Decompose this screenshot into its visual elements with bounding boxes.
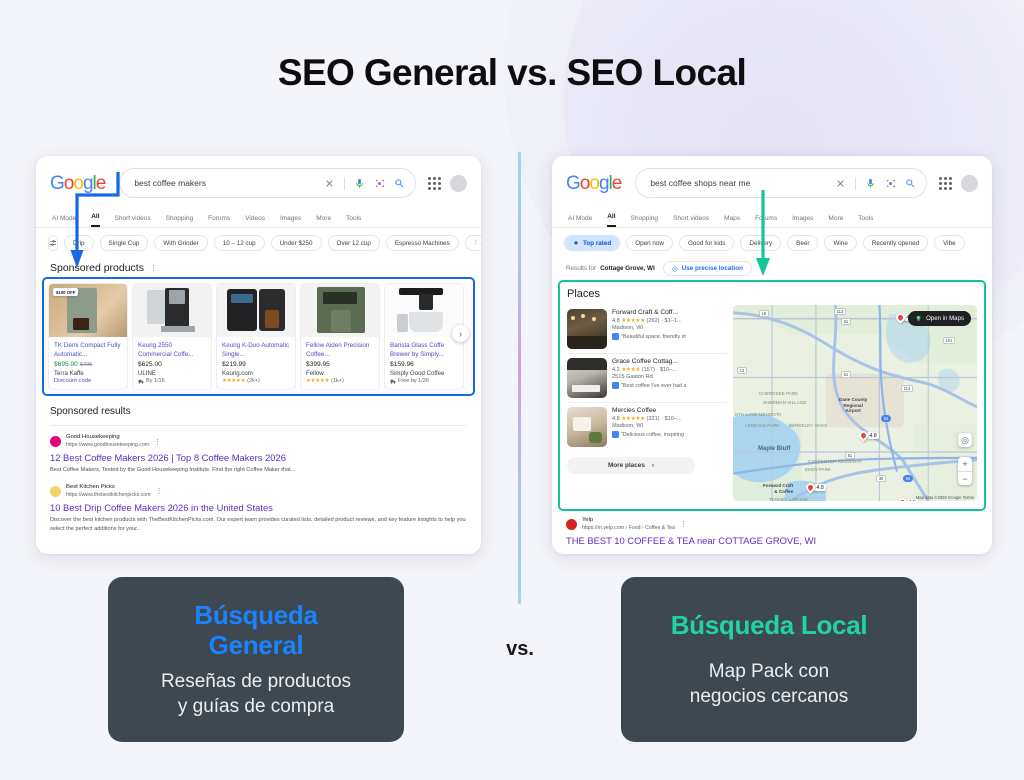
search-result-item: Good Housekeeping https://www.goodhousek… [36, 426, 481, 475]
favicon-icon [566, 519, 577, 530]
divider [855, 177, 856, 190]
location-prefix: Results for [566, 265, 596, 272]
map-pin-rating: 4.8 [867, 432, 879, 439]
star-rating-icon: ★★★★★ [621, 318, 645, 324]
map-recenter-button[interactable]: ◎ [958, 433, 972, 447]
tab-ai-mode[interactable]: AI Mode [568, 215, 592, 227]
result-url: https://www.goodhousekeeping.com [66, 442, 149, 449]
map-pin-rating: 4.8 [814, 484, 826, 491]
place-info: Mercies Coffee 4.8 ★★★★★ (321) · $10–...… [612, 407, 727, 447]
product-shipping: By 1/15 [138, 378, 206, 384]
product-card[interactable]: $100 OFF TK Demi Compact Fully Automatic… [48, 283, 128, 390]
map-pin[interactable]: 4.8 [859, 431, 879, 440]
result-url: https://m.yelp.com › Food › Coffee & Tea [582, 525, 675, 532]
divider [344, 177, 345, 190]
kebab-menu-icon[interactable]: ⋮ [760, 265, 767, 273]
tab-all[interactable]: All [91, 213, 99, 227]
tab-images[interactable]: Images [792, 215, 813, 227]
serp-nav-tabs-right: AI Mode All Shopping Short videos Maps F… [552, 206, 992, 228]
result-title[interactable]: THE BEST 10 COFFEE & TEA near COTTAGE GR… [566, 535, 978, 546]
product-merchant: Terra Kaffe [54, 370, 122, 377]
result-source: Best Kitchen Picks https://www.thebestki… [50, 484, 467, 499]
caption-title: Búsqueda Local [671, 610, 868, 640]
google-logo[interactable]: Google [566, 174, 621, 193]
open-in-maps-button[interactable]: Open in Maps [908, 311, 971, 326]
route-shield: 51 [841, 371, 851, 378]
product-card[interactable]: Fellow Aiden Precision Coffee... $399.95… [300, 283, 380, 390]
award-icon [573, 240, 579, 246]
microphone-icon[interactable] [865, 178, 876, 189]
result-source: Good Housekeeping https://www.goodhousek… [50, 434, 467, 449]
result-description: Best Coffee Makers, Tested by the Good H… [50, 466, 467, 476]
avatar[interactable] [961, 175, 978, 192]
route-shield: 51 [845, 452, 855, 459]
star-rating-icon: ★★★★★ [621, 416, 645, 422]
search-icon[interactable] [905, 178, 916, 189]
microphone-icon[interactable] [354, 178, 365, 189]
tab-images[interactable]: Images [280, 215, 301, 227]
chip-open-now[interactable]: Open now [626, 235, 673, 251]
product-price: $399.95 [306, 361, 374, 368]
caption-title: Búsqueda General [194, 600, 317, 660]
result-site-name: Yelp [582, 517, 675, 525]
map-label: CARPENTER RIDGEWAY [808, 459, 862, 464]
use-precise-location-button[interactable]: Use precise location [663, 261, 752, 276]
map-label-business: Forward Craft& Coffee [763, 483, 793, 494]
chip-recently-opened[interactable]: Recently opened [863, 235, 928, 251]
product-image [217, 284, 295, 337]
product-shipping: Free by 1/26 [390, 378, 458, 384]
product-image [133, 284, 211, 337]
caption-title-line1: Búsqueda Local [671, 610, 868, 640]
google-header-right: Google best coffee shops near me [552, 156, 992, 206]
review-badge-icon [612, 431, 619, 438]
google-lens-icon[interactable] [885, 178, 896, 189]
caption-card-general: Búsqueda General Reseñas de productos y … [108, 577, 404, 742]
filter-settings-icon[interactable] [48, 235, 58, 251]
place-name[interactable]: Mercies Coffee [612, 407, 727, 414]
serp-general-panel: Google best coffee makers AI Mode All Sh… [36, 156, 481, 554]
product-merchant: Fellow [306, 370, 374, 377]
caption-sub-line1: Map Pack con [690, 659, 848, 684]
place-address: Madison, WI [612, 325, 727, 331]
sponsored-products-label: Sponsored products [50, 262, 144, 274]
place-name[interactable]: Forward Craft & Coff... [612, 309, 727, 316]
product-rating: ★★★★★(2k+) [222, 378, 290, 384]
caption-sub-line1: Reseñas de productos [161, 669, 351, 694]
tab-short-videos[interactable]: Short videos [115, 215, 151, 227]
google-apps-icon[interactable] [428, 177, 441, 190]
product-price: $219.99 [222, 361, 290, 368]
product-body: Keurig K-Duo Automatic Single... $219.99… [217, 337, 295, 389]
product-body: Barista Glass Coffe Brewer by Simply... … [385, 337, 463, 389]
map-label: TENNEY LAPHAM [769, 497, 808, 501]
route-shield: 51 [841, 318, 851, 325]
chip-vibe[interactable]: Vibe [934, 235, 965, 251]
zoom-in-button[interactable]: + [958, 457, 972, 471]
product-image [385, 284, 463, 337]
place-meta: 4.2 ★★★★ (157) · $10–... [612, 367, 727, 373]
place-thumbnail [567, 407, 607, 447]
map-label: BERKELEY OAKS [789, 423, 827, 428]
favicon-icon [50, 436, 61, 447]
product-discount-note[interactable]: Discount code [54, 378, 122, 384]
caption-sub-line2: negocios cercanos [690, 684, 848, 709]
google-apps-icon[interactable] [939, 177, 952, 190]
search-result-item: Best Kitchen Picks https://www.thebestki… [36, 476, 481, 535]
chip-single-cup[interactable]: Single Cup [100, 235, 149, 251]
places-label: Places [567, 288, 977, 300]
place-thumbnail [567, 358, 607, 398]
place-thumbnail [567, 309, 607, 349]
product-title[interactable]: Keurig K-Duo Automatic Single... [222, 341, 290, 359]
chip-drip[interactable]: Drip [64, 235, 94, 251]
product-merchant: Simply Good Coffee [390, 370, 458, 377]
star-rating-icon: ★★★★★ [306, 378, 329, 384]
chip-espresso-machines[interactable]: Espresso Machines [386, 235, 459, 251]
caption-sub-line2: y guías de compra [161, 694, 351, 719]
chevron-right-icon: › [652, 462, 654, 469]
route-shield: 151 [943, 337, 955, 344]
product-price: $625.00 [138, 361, 206, 368]
sponsored-results-label: Sponsored results [36, 396, 481, 417]
place-info: Forward Craft & Coff... 4.8 ★★★★★ (262) … [612, 309, 727, 349]
product-body: TK Demi Compact Fully Automatic... $695.… [49, 337, 127, 389]
vs-label: vs. [475, 638, 565, 661]
google-logo[interactable]: Google [50, 174, 105, 193]
result-description: Discover the best kitchen products with … [50, 516, 467, 535]
caption-title-line2: General [194, 630, 317, 660]
route-shield: 113 [834, 308, 846, 315]
search-actions [324, 177, 405, 190]
chip-7-10-cup[interactable]: 7 – 10 cup [465, 235, 481, 251]
serp-nav-tabs-left: AI Mode All Short videos Shopping Forums… [36, 206, 481, 228]
place-address: 2515 Gaston Rd [612, 374, 727, 380]
caption-card-local: Búsqueda Local Map Pack con negocios cer… [621, 577, 917, 742]
search-query-text: best coffee shops near me [650, 178, 835, 188]
maps-pin-icon [915, 315, 922, 322]
product-badge: $100 OFF [53, 288, 78, 296]
product-image: $100 OFF [49, 284, 127, 337]
map-label: SHERMAN VILLAGE [763, 400, 806, 405]
route-shield: 113 [901, 385, 913, 392]
list-item[interactable]: Grace Coffee Cottag... 4.2 ★★★★ (157) · … [567, 353, 727, 402]
favicon-icon [50, 486, 61, 497]
map-label: EKEN PARK [805, 467, 831, 472]
tab-shopping[interactable]: Shopping [631, 215, 658, 227]
chip-over-12-cup[interactable]: Over 12 cup [328, 235, 380, 251]
truck-icon [138, 379, 144, 384]
star-rating-icon: ★★★★ [621, 367, 640, 373]
product-body: Fellow Aiden Precision Coffee... $399.95… [301, 337, 379, 389]
location-place: Cottage Grove, WI [600, 265, 655, 272]
tab-videos[interactable]: Videos [245, 215, 265, 227]
search-icon[interactable] [394, 178, 405, 189]
route-shield: 30 [876, 475, 886, 482]
place-review-quote: "Delicious coffee, inspiring [612, 431, 727, 438]
search-input[interactable]: best coffee makers [119, 168, 416, 198]
google-lens-icon[interactable] [374, 178, 385, 189]
chip-beer[interactable]: Beer [787, 235, 818, 251]
product-merchant: ULINE [138, 370, 206, 377]
more-places-button[interactable]: More places › [567, 457, 695, 474]
caption-subtitle: Map Pack con negocios cercanos [690, 659, 848, 709]
review-badge-icon [612, 333, 619, 340]
serp-local-panel: Google best coffee shops near me AI Mode… [552, 156, 992, 554]
search-actions [835, 177, 916, 190]
place-meta: 4.8 ★★★★★ (262) · $1–1... [612, 318, 727, 324]
place-name[interactable]: Grace Coffee Cottag... [612, 358, 727, 365]
chip-10-12-cup[interactable]: 10 – 12 cup [214, 235, 265, 251]
tab-shopping[interactable]: Shopping [166, 215, 193, 227]
location-row: Results for Cottage Grove, WI Use precis… [552, 257, 992, 276]
kebab-menu-icon[interactable]: ⋮ [154, 438, 161, 446]
truck-icon [390, 379, 396, 384]
map-label-water: Maple Bluff [758, 446, 790, 452]
place-info: Grace Coffee Cottag... 4.2 ★★★★ (157) · … [612, 358, 727, 398]
place-address: Madison, WI [612, 423, 727, 429]
search-result-item: Yelp https://m.yelp.com › Food › Coffee … [552, 511, 992, 546]
places-content: Forward Craft & Coff... 4.8 ★★★★★ (262) … [567, 305, 977, 501]
result-site-name: Best Kitchen Picks [66, 484, 150, 492]
kebab-menu-icon[interactable]: ⋮ [680, 520, 687, 528]
result-title[interactable]: 10 Best Drip Coffee Makers 2026 in the U… [50, 502, 467, 513]
chip-top-rated[interactable]: Top rated [564, 235, 620, 251]
carousel-next-button[interactable]: › [452, 325, 469, 342]
tab-forums[interactable]: Forums [755, 215, 777, 227]
caption-title-line1: Búsqueda [194, 600, 317, 630]
chip-under-250[interactable]: Under $250 [271, 235, 322, 251]
tab-tools[interactable]: Tools [858, 215, 873, 227]
place-review-quote: "Beautiful space, friendly st [612, 333, 727, 340]
filter-chips-right: Top rated Open now Good for kids Deliver… [552, 228, 992, 257]
search-query-text: best coffee makers [134, 178, 324, 188]
product-merchant: Keurig.com [222, 370, 290, 377]
product-image [301, 284, 379, 337]
filter-chips-left: Drip Single Cup With Grinder 10 – 12 cup… [36, 228, 481, 257]
result-title[interactable]: 12 Best Coffee Makers 2026 | Top 8 Coffe… [50, 452, 467, 463]
map-zoom-controls[interactable]: + − [958, 457, 972, 485]
route-shield: 12 [737, 367, 747, 374]
caption-subtitle: Reseñas de productos y guías de compra [161, 669, 351, 719]
location-target-icon [672, 266, 678, 272]
tab-more[interactable]: More [316, 215, 331, 227]
product-price: $159.96 [390, 361, 458, 368]
result-source: Yelp https://m.yelp.com › Food › Coffee … [566, 517, 978, 532]
list-item[interactable]: Mercies Coffee 4.8 ★★★★★ (321) · $10–...… [567, 402, 727, 451]
avatar[interactable] [450, 175, 467, 192]
chip-good-for-kids[interactable]: Good for kids [679, 235, 734, 251]
result-site-name: Good Housekeeping [66, 434, 149, 442]
product-title[interactable]: Fellow Aiden Precision Coffee... [306, 341, 374, 359]
tab-short-videos[interactable]: Short videos [673, 215, 709, 227]
kebab-menu-icon[interactable]: ⋮ [155, 487, 162, 495]
sponsored-products-carousel: $100 OFF TK Demi Compact Fully Automatic… [42, 277, 475, 396]
chip-with-grinder[interactable]: With Grinder [154, 235, 207, 251]
product-price: $695.00$795 [54, 361, 122, 368]
map-attribution: Map data ©2026 Google Terms [916, 495, 974, 500]
product-card[interactable]: Keurig 2550 Commercial Coffe... $625.00 … [132, 283, 212, 390]
product-title[interactable]: TK Demi Compact Fully Automatic... [54, 341, 122, 359]
zoom-out-button[interactable]: − [958, 471, 972, 485]
map-canvas[interactable]: 19 113 51 51 113 151 12 94 94 51 30 CHER… [733, 305, 977, 501]
close-icon[interactable] [835, 178, 846, 189]
product-title[interactable]: Barista Glass Coffe Brewer by Simply... [390, 341, 458, 359]
tab-all[interactable]: All [607, 213, 615, 227]
tab-maps[interactable]: Maps [724, 215, 740, 227]
map-label: LERDAHL PARK [745, 423, 779, 428]
kebab-menu-icon[interactable]: ⋮ [150, 264, 157, 272]
result-url: https://www.thebestkitchenpicks.com [66, 492, 150, 499]
product-title[interactable]: Keurig 2550 Commercial Coffe... [138, 341, 206, 359]
product-card[interactable]: Keurig K-Duo Automatic Single... $219.99… [216, 283, 296, 390]
product-body: Keurig 2550 Commercial Coffe... $625.00 … [133, 337, 211, 389]
tab-more[interactable]: More [828, 215, 843, 227]
map-label: NTH LAKE MENDOTA [735, 412, 781, 417]
interstate-shield: 94 [903, 475, 913, 482]
route-shield: 19 [759, 310, 769, 317]
sponsored-products-header: Sponsored products ⋮ [36, 257, 481, 277]
tab-ai-mode[interactable]: AI Mode [52, 215, 76, 227]
tab-forums[interactable]: Forums [208, 215, 230, 227]
map-pin[interactable]: 4.8 [806, 483, 826, 492]
map-label: CHEROKEE PARK [759, 391, 798, 396]
recenter-icon: ◎ [958, 433, 972, 447]
close-icon[interactable] [324, 178, 335, 189]
map-label-airport: Dane CountyRegionalAirport [839, 397, 867, 414]
page-title: SEO General vs. SEO Local [0, 52, 1024, 94]
vertical-divider [518, 152, 521, 604]
interstate-shield: 94 [881, 415, 891, 422]
star-rating-icon: ★★★★★ [222, 378, 245, 384]
search-input[interactable]: best coffee shops near me [635, 168, 927, 198]
place-review-quote: "Best coffee I've ever had a [612, 382, 727, 389]
product-old-price: $795 [80, 362, 92, 368]
list-item[interactable]: Forward Craft & Coff... 4.8 ★★★★★ (262) … [567, 305, 727, 353]
product-rating: ★★★★★(1k+) [306, 378, 374, 384]
chip-delivery[interactable]: Delivery [740, 235, 781, 251]
tab-tools[interactable]: Tools [346, 215, 361, 227]
google-header-left: Google best coffee makers [36, 156, 481, 206]
chip-wine[interactable]: Wine [824, 235, 856, 251]
place-meta: 4.8 ★★★★★ (321) · $10–... [612, 416, 727, 422]
places-list: Forward Craft & Coff... 4.8 ★★★★★ (262) … [567, 305, 727, 501]
map-pack: Places Forward Craft & Coff... 4.8 ★★★★ [558, 280, 986, 511]
review-badge-icon [612, 382, 619, 389]
